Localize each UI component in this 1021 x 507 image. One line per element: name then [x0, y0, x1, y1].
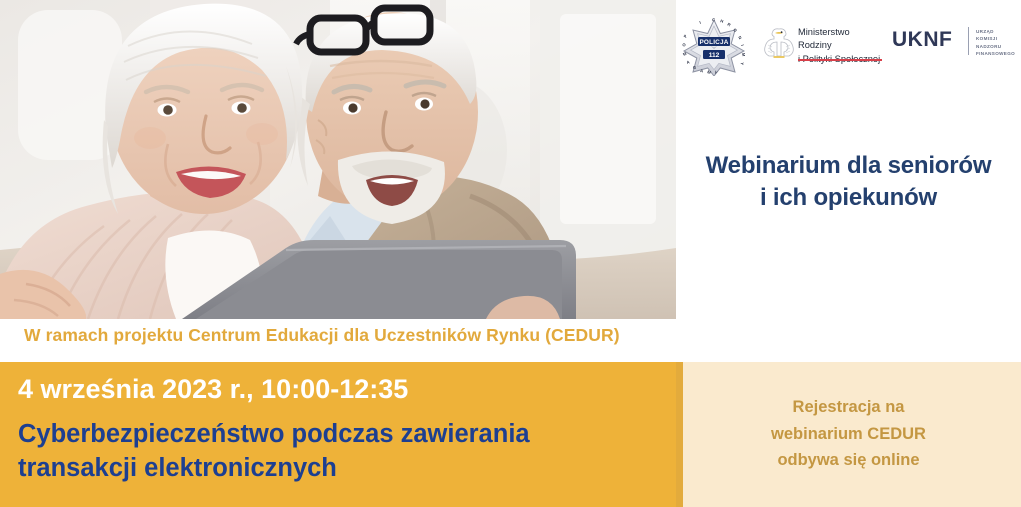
- svg-text:POLICJA: POLICJA: [699, 39, 728, 46]
- svg-text:A: A: [686, 59, 690, 65]
- svg-text:H: H: [720, 18, 724, 24]
- ministry-logo: Ministerstwo Rodziny i Polityki Społeczn…: [762, 23, 884, 68]
- webinar-heading: Webinarium dla seniorów i ich opiekunów: [676, 150, 1021, 214]
- event-title-line-2: transakcji elektronicznych: [18, 452, 668, 486]
- svg-text:I: I: [699, 20, 702, 25]
- ministry-name-line-1: Ministerstwo Rodziny: [798, 26, 884, 53]
- hero-photo-elderly-couple: [0, 0, 676, 319]
- event-details-block: 4 września 2023 r., 10:00-12:35 Cyberbez…: [0, 362, 676, 507]
- svg-text:G: G: [693, 65, 697, 70]
- registration-line-1: Rejestracja na: [696, 394, 1001, 421]
- ministry-red-rule: [798, 59, 882, 61]
- svg-text:I: I: [740, 44, 745, 46]
- svg-text:C: C: [712, 17, 716, 22]
- svg-text:R: R: [726, 22, 731, 28]
- uknf-divider: [968, 27, 969, 55]
- svg-text:N: N: [737, 35, 743, 40]
- uknf-subtitle-line-2: KOMISJI: [976, 35, 1021, 42]
- left-column: W ramach projektu Centrum Edukacji dla U…: [0, 0, 676, 507]
- svg-text:O: O: [681, 41, 687, 47]
- registration-text: Rejestracja na webinarium CEDUR odbywa s…: [696, 394, 1001, 474]
- registration-line-2: webinarium CEDUR: [696, 421, 1001, 448]
- organizer-logos: POLICJA 112 P O M A G A: [676, 14, 1021, 76]
- cedur-project-text: W ramach projektu Centrum Edukacji dla U…: [24, 325, 620, 346]
- uknf-wordmark: UKNF: [892, 28, 952, 52]
- svg-text:M: M: [741, 53, 746, 57]
- event-date-time: 4 września 2023 r., 10:00-12:35: [18, 374, 408, 405]
- svg-text:P: P: [682, 34, 688, 39]
- registration-line-3: odbywa się online: [696, 447, 1001, 474]
- event-title-line-1: Cyberbezpieczeństwo podczas zawierania: [18, 418, 668, 452]
- event-title: Cyberbezpieczeństwo podczas zawierania t…: [18, 418, 668, 486]
- webinar-heading-line-1: Webinarium dla seniorów: [676, 150, 1021, 182]
- uknf-subtitle: URZĄD KOMISJI NADZORU FINANSOWEGO: [976, 28, 1021, 58]
- registration-block: Rejestracja na webinarium CEDUR odbywa s…: [676, 362, 1021, 507]
- webinar-poster: W ramach projektu Centrum Edukacji dla U…: [0, 0, 1021, 507]
- svg-text:A: A: [700, 68, 704, 73]
- polish-eagle-icon: [762, 25, 796, 61]
- uknf-subtitle-line-3: NADZORU: [976, 43, 1021, 50]
- svg-text:112: 112: [709, 52, 720, 59]
- svg-text:Y: Y: [739, 62, 744, 66]
- webinar-heading-line-2: i ich opiekunów: [676, 182, 1021, 214]
- right-column: POLICJA 112 P O M A G A: [676, 0, 1021, 507]
- police-badge-icon: POLICJA 112 P O M A G A: [680, 16, 748, 76]
- uknf-subtitle-line-1: URZĄD: [976, 28, 1021, 35]
- cedur-project-strip: W ramach projektu Centrum Edukacji dla U…: [0, 319, 676, 362]
- gold-accent-edge: [676, 362, 683, 507]
- uknf-logo: UKNF URZĄD KOMISJI NADZORU FINANSOWEGO: [892, 28, 1017, 62]
- uknf-subtitle-line-4: FINANSOWEGO: [976, 50, 1021, 57]
